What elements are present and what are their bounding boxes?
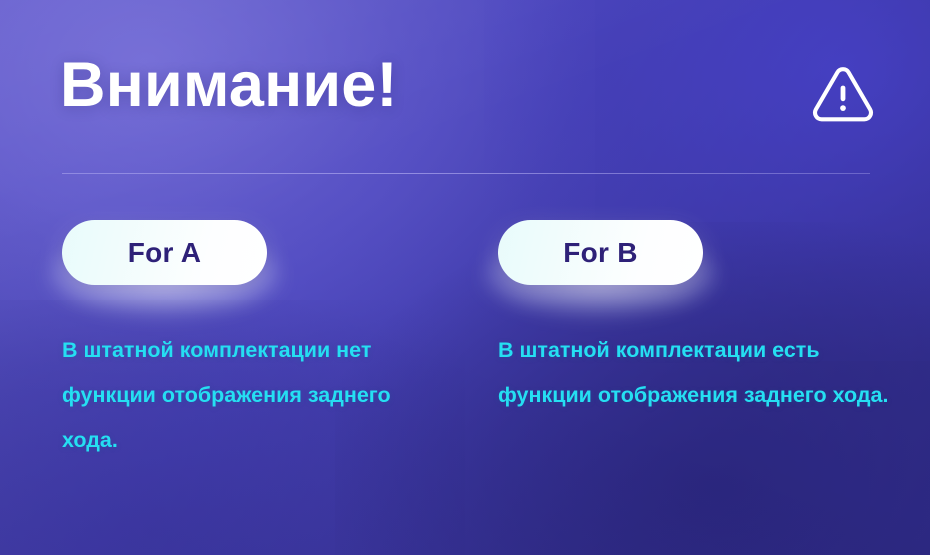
header-divider <box>62 173 870 174</box>
page-title: Внимание! <box>60 52 398 119</box>
warning-triangle-icon <box>810 63 876 125</box>
pill-label-for-b: For B <box>563 237 638 269</box>
body-text-for-a: В штатной комплектации нет функции отобр… <box>62 328 452 463</box>
body-text-for-b: В штатной комплектации есть функции отоб… <box>498 328 898 418</box>
column-for-b: For B В штатной комплектации есть функци… <box>498 220 918 285</box>
warning-slide: Внимание! For A В штатной комплектации н… <box>0 0 930 555</box>
column-for-a: For A В штатной комплектации нет функции… <box>62 220 482 285</box>
pill-label-for-a: For A <box>128 237 202 269</box>
pill-wrapper-for-b: For B <box>498 220 703 285</box>
pill-button-for-b[interactable]: For B <box>498 220 703 285</box>
pill-button-for-a[interactable]: For A <box>62 220 267 285</box>
slide-content: Внимание! For A В штатной комплектации н… <box>0 0 930 555</box>
pill-wrapper-for-a: For A <box>62 220 267 285</box>
